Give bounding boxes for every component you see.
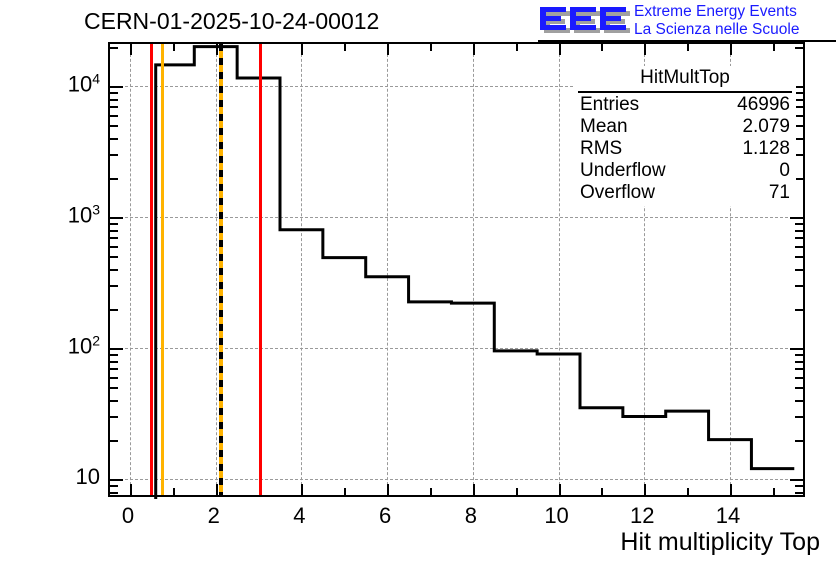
root-canvas: CERN-01-2025-10-24-00012 — [0, 0, 836, 572]
stats-row-value: 71 — [769, 182, 790, 204]
x-axis-tick-label: 4 — [293, 503, 305, 529]
x-axis-title: Hit multiplicity Top — [620, 528, 820, 557]
marker-line-threshold-low — [150, 44, 153, 495]
stats-row: RMS1.128 — [574, 138, 796, 160]
y-axis-tick-label: 102 — [44, 332, 100, 359]
eee-logo-text: Extreme Energy Events La Scienza nelle S… — [634, 3, 834, 39]
x-axis-tick-label: 14 — [716, 503, 740, 529]
stats-rows: Entries46996Mean2.079RMS1.128Underflow0O… — [574, 94, 796, 204]
y-axis-tick-label: 103 — [44, 201, 100, 228]
marker-line-threshold-mid — [161, 44, 164, 495]
y-axis-tick-label: 10 — [44, 464, 100, 490]
stats-row: Overflow71 — [574, 182, 796, 204]
stats-title-divider — [578, 91, 792, 93]
stats-row-label: Mean — [580, 116, 628, 138]
page-title: CERN-01-2025-10-24-00012 — [84, 8, 379, 35]
x-axis-tick-label: 8 — [465, 503, 477, 529]
x-axis-tick-label: 12 — [630, 503, 654, 529]
x-axis-tick-label: 6 — [379, 503, 391, 529]
stats-title: HitMultTop — [574, 66, 796, 89]
eee-logo-line1: Extreme Energy Events — [634, 3, 834, 21]
x-axis-tick-label: 10 — [544, 503, 568, 529]
stats-row-value: 0 — [779, 160, 790, 182]
stats-row-label: Overflow — [580, 182, 655, 204]
stats-row: Entries46996 — [574, 94, 796, 116]
stats-row-value: 46996 — [737, 94, 790, 116]
marker-line-mean-marker — [219, 44, 223, 495]
stats-row-value: 1.128 — [742, 138, 790, 160]
stats-row-label: Underflow — [580, 160, 666, 182]
x-axis-tick-label: 2 — [208, 503, 220, 529]
eee-logo-line2: La Scienza nelle Scuole — [634, 21, 834, 39]
y-axis-tick-label: 104 — [44, 70, 100, 97]
stats-row-label: RMS — [580, 138, 622, 160]
stats-box: HitMultTop Entries46996Mean2.079RMS1.128… — [574, 66, 796, 206]
x-axis-tick-label: 0 — [122, 503, 134, 529]
marker-line-threshold-high — [259, 44, 262, 495]
stats-row: Underflow0 — [574, 160, 796, 182]
stats-row: Mean2.079 — [574, 116, 796, 138]
stats-row-value: 2.079 — [742, 116, 790, 138]
stats-row-label: Entries — [580, 94, 639, 116]
eee-logo: Extreme Energy Events La Scienza nelle S… — [538, 3, 830, 39]
eee-logo-icon — [538, 5, 630, 37]
